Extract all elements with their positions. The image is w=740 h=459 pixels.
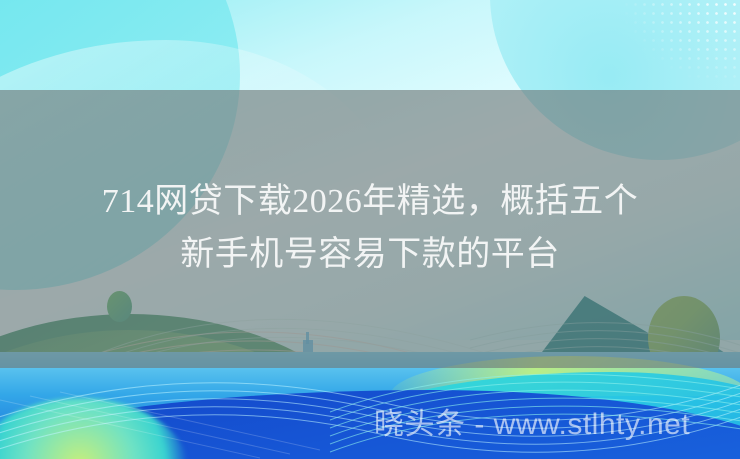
gray-scrim-overlay [0, 90, 740, 368]
promotional-banner-image: 714网贷下载2026年精选，概括五个 新手机号容易下款的平台 晓头条 - ww… [0, 0, 740, 459]
watermark-text: 晓头条 - www.stlhty.net [374, 402, 740, 448]
